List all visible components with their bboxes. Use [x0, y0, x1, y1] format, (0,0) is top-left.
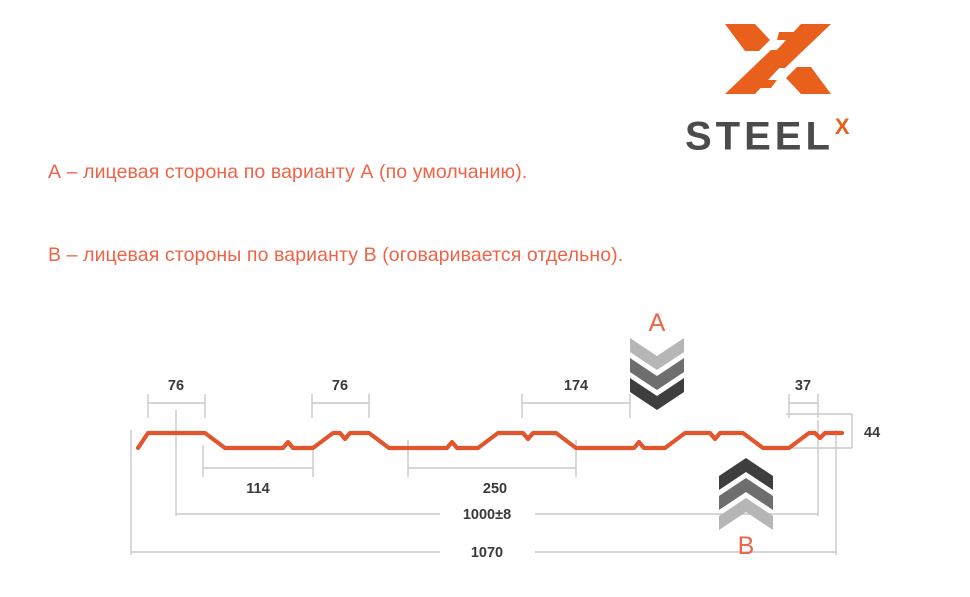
dimension-texts: 76 76 114 250 174 37 44 1000±8 1070 — [168, 378, 880, 561]
dim-76-mid: 76 — [332, 378, 348, 394]
face-variant-b-marker: B — [719, 458, 773, 560]
page-root: STEELX А – лицевая сторона по варианту А… — [0, 0, 970, 597]
dimension-lines — [131, 403, 852, 552]
profile-section-line — [138, 433, 842, 448]
steelx-x-mark-icon — [723, 18, 833, 100]
marker-a-label: A — [649, 309, 666, 337]
dim-250: 250 — [483, 481, 507, 497]
face-variant-a-marker: A — [630, 309, 684, 410]
marker-b-label: B — [738, 532, 755, 560]
logo-steel-text: STEEL — [685, 114, 834, 158]
witness-lines — [131, 394, 852, 555]
dim-44: 44 — [864, 425, 880, 441]
logo-x-superscript: X — [835, 114, 850, 139]
dim-total-width: 1070 — [471, 545, 503, 561]
steelx-wordmark: STEELX — [685, 114, 910, 158]
dim-76-left: 76 — [168, 378, 184, 394]
caption-variant-b: В – лицевая стороны по варианту В (огова… — [48, 244, 623, 267]
caption-variant-a: А – лицевая сторона по варианту А (по ум… — [48, 161, 527, 184]
profile-technical-drawing: 76 76 114 250 174 37 44 1000±8 1070 A — [0, 290, 970, 590]
dim-37: 37 — [795, 378, 811, 394]
steelx-logo: STEELX — [685, 18, 910, 148]
chevron-up-icon — [719, 458, 773, 530]
dim-useful-width: 1000±8 — [463, 507, 511, 523]
chevron-down-icon — [630, 338, 684, 410]
dim-114: 114 — [246, 481, 269, 497]
dim-174: 174 — [564, 378, 588, 394]
